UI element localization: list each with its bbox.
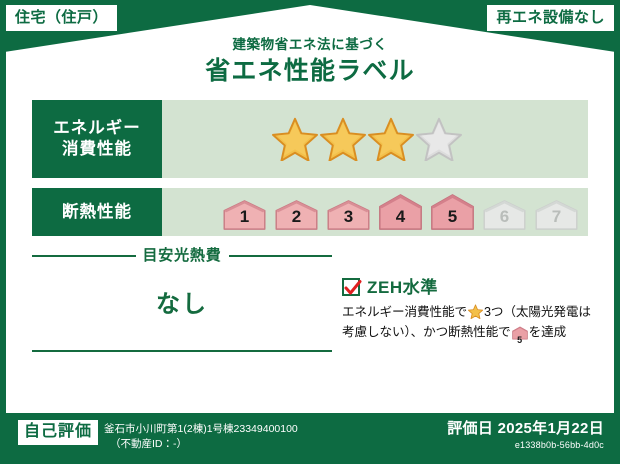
insulation-level-6: 6	[480, 200, 529, 230]
divider-right	[229, 255, 333, 257]
insulation-level-number: 3	[324, 208, 373, 225]
header-subtitle: 建築物省エネ法に基づく	[0, 38, 620, 52]
property-id: （不動産ID：-）	[104, 437, 298, 452]
evaluation-date-label: 評価日	[447, 420, 493, 437]
divider-left	[32, 255, 136, 257]
evaluation-hash: e1338b0b-56bb-4d0c	[447, 441, 604, 450]
insulation-performance-key: 断熱性能	[32, 188, 162, 236]
energy-performance-value	[162, 100, 588, 178]
insulation-level-3: 3	[324, 200, 373, 230]
zeh-desc-part1: エネルギー消費性能で	[342, 305, 467, 319]
house-icon-number: 5	[512, 336, 528, 345]
zeh-title: ZEH水準	[367, 279, 438, 296]
self-evaluation-badge: 自己評価	[18, 420, 98, 445]
insulation-performance-row: 断熱性能 1 2	[32, 188, 588, 236]
star-icon	[320, 117, 366, 161]
star-rating	[272, 117, 462, 161]
star-icon	[468, 304, 483, 319]
check-icon	[343, 278, 363, 298]
insulation-level-number: 5	[428, 208, 477, 225]
insulation-level-number: 4	[376, 208, 425, 225]
footer-right: 評価日 2025年1月22日 e1338b0b-56bb-4d0c	[447, 421, 604, 450]
label-body-panel: エネルギー 消費性能	[6, 88, 614, 413]
zeh-description: エネルギー消費性能で3つ（太陽光発電は考慮しない）、かつ断熱性能で5を達成	[342, 303, 594, 346]
property-address: 釜石市小川町第1(2棟)1号棟23349400100 （不動産ID：-）	[104, 420, 298, 452]
zeh-block: ZEH水準 エネルギー消費性能で3つ（太陽光発電は考慮しない）、かつ断熱性能で5…	[342, 278, 594, 346]
insulation-level-number: 1	[220, 208, 269, 225]
badge-renewable-energy: 再エネ設備なし	[487, 5, 614, 31]
badge-housing-type: 住宅（住戸）	[6, 5, 117, 31]
page-title: 省エネ性能ラベル	[0, 59, 620, 84]
energy-performance-label: 住宅（住戸） 再エネ設備なし 建築物省エネ法に基づく 省エネ性能ラベル エネルギ…	[0, 0, 620, 464]
insulation-level-number: 7	[532, 208, 581, 225]
zeh-title-row: ZEH水準	[342, 278, 594, 296]
insulation-level-number: 6	[480, 208, 529, 225]
energy-performance-row: エネルギー 消費性能	[32, 100, 588, 178]
insulation-level-2: 2	[272, 200, 321, 230]
evaluation-date: 評価日 2025年1月22日	[447, 421, 604, 438]
insulation-level-number: 2	[272, 208, 321, 225]
evaluation-date-value: 2025年1月22日	[498, 420, 604, 437]
utility-cost-value: なし	[32, 293, 332, 317]
insulation-level-1: 1	[220, 200, 269, 230]
zeh-checkbox[interactable]	[342, 278, 360, 296]
energy-key-line2: 消費性能	[62, 139, 132, 160]
insulation-level-7: 7	[532, 200, 581, 230]
star-icon	[368, 117, 414, 161]
address-line: 釜石市小川町第1(2棟)1号棟23349400100	[104, 423, 298, 435]
utility-cost-block: 目安光熱費 なし	[32, 248, 332, 352]
insulation-level-5: 5	[428, 194, 477, 230]
star-icon	[272, 117, 318, 161]
utility-cost-label: 目安光熱費	[143, 248, 222, 263]
footer-left: 自己評価 釜石市小川町第1(2棟)1号棟23349400100 （不動産ID：-…	[18, 420, 298, 452]
utility-cost-heading: 目安光熱費	[32, 248, 332, 263]
utility-cost-bottom-divider	[32, 350, 332, 352]
insulation-performance-value: 1 2 3	[162, 188, 588, 236]
header: 建築物省エネ法に基づく 省エネ性能ラベル	[0, 38, 620, 84]
energy-performance-key: エネルギー 消費性能	[32, 100, 162, 178]
energy-key-line1: エネルギー	[53, 118, 141, 139]
insulation-level-scale: 1 2 3	[220, 194, 581, 230]
house-icon-inline: 5	[512, 326, 528, 347]
insulation-level-4: 4	[376, 194, 425, 230]
zeh-desc-part3: を達成	[529, 325, 566, 339]
footer: 自己評価 釜石市小川町第1(2棟)1号棟23349400100 （不動産ID：-…	[0, 416, 620, 464]
star-icon-empty	[416, 117, 462, 161]
